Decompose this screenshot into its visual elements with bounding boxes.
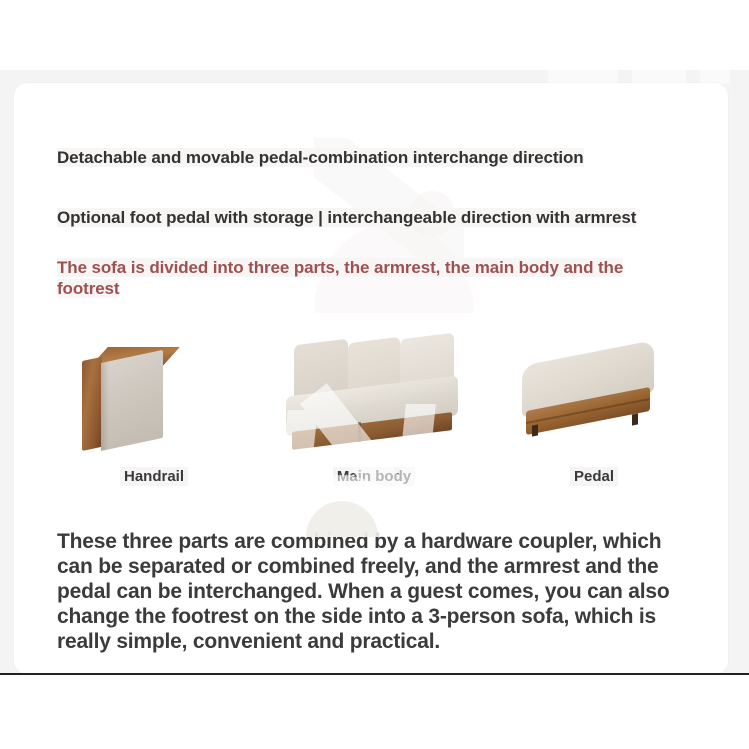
viewport-clip-mask: [0, 675, 749, 749]
product-detail-page: Detachable and movable pedal-combination…: [0, 0, 749, 749]
handrail-image: [54, 339, 254, 459]
pedal-image: [494, 339, 694, 459]
viewport-clip-rule: [0, 673, 749, 675]
pedal-leg-right: [632, 413, 638, 425]
part-item-main-body[interactable]: Main body: [274, 326, 474, 486]
part-caption-main-body: Main body: [333, 467, 415, 486]
part-item-pedal[interactable]: Pedal: [494, 326, 694, 486]
feature-body-paragraph: These three parts are combined by a hard…: [57, 529, 697, 654]
part-item-handrail[interactable]: Handrail: [54, 326, 254, 486]
feature-heading-primary: Detachable and movable pedal-combination…: [57, 148, 677, 168]
feature-heading-highlight: The sofa is divided into three parts, th…: [57, 257, 637, 299]
sofa-base-seam: [358, 422, 361, 442]
handrail-wood-edge: [82, 357, 102, 451]
main-body-image: [274, 336, 474, 456]
handrail-shading: [101, 361, 109, 451]
sofa-parts-row: Handrail Main body: [54, 326, 694, 486]
pedal-leg-left: [532, 424, 538, 436]
handrail-fabric-face: [101, 350, 163, 451]
part-caption-handrail: Handrail: [120, 467, 188, 486]
product-description-card: Detachable and movable pedal-combination…: [14, 83, 728, 674]
part-caption-pedal: Pedal: [570, 467, 618, 486]
feature-heading-secondary: Optional foot pedal with storage | inter…: [57, 208, 682, 228]
